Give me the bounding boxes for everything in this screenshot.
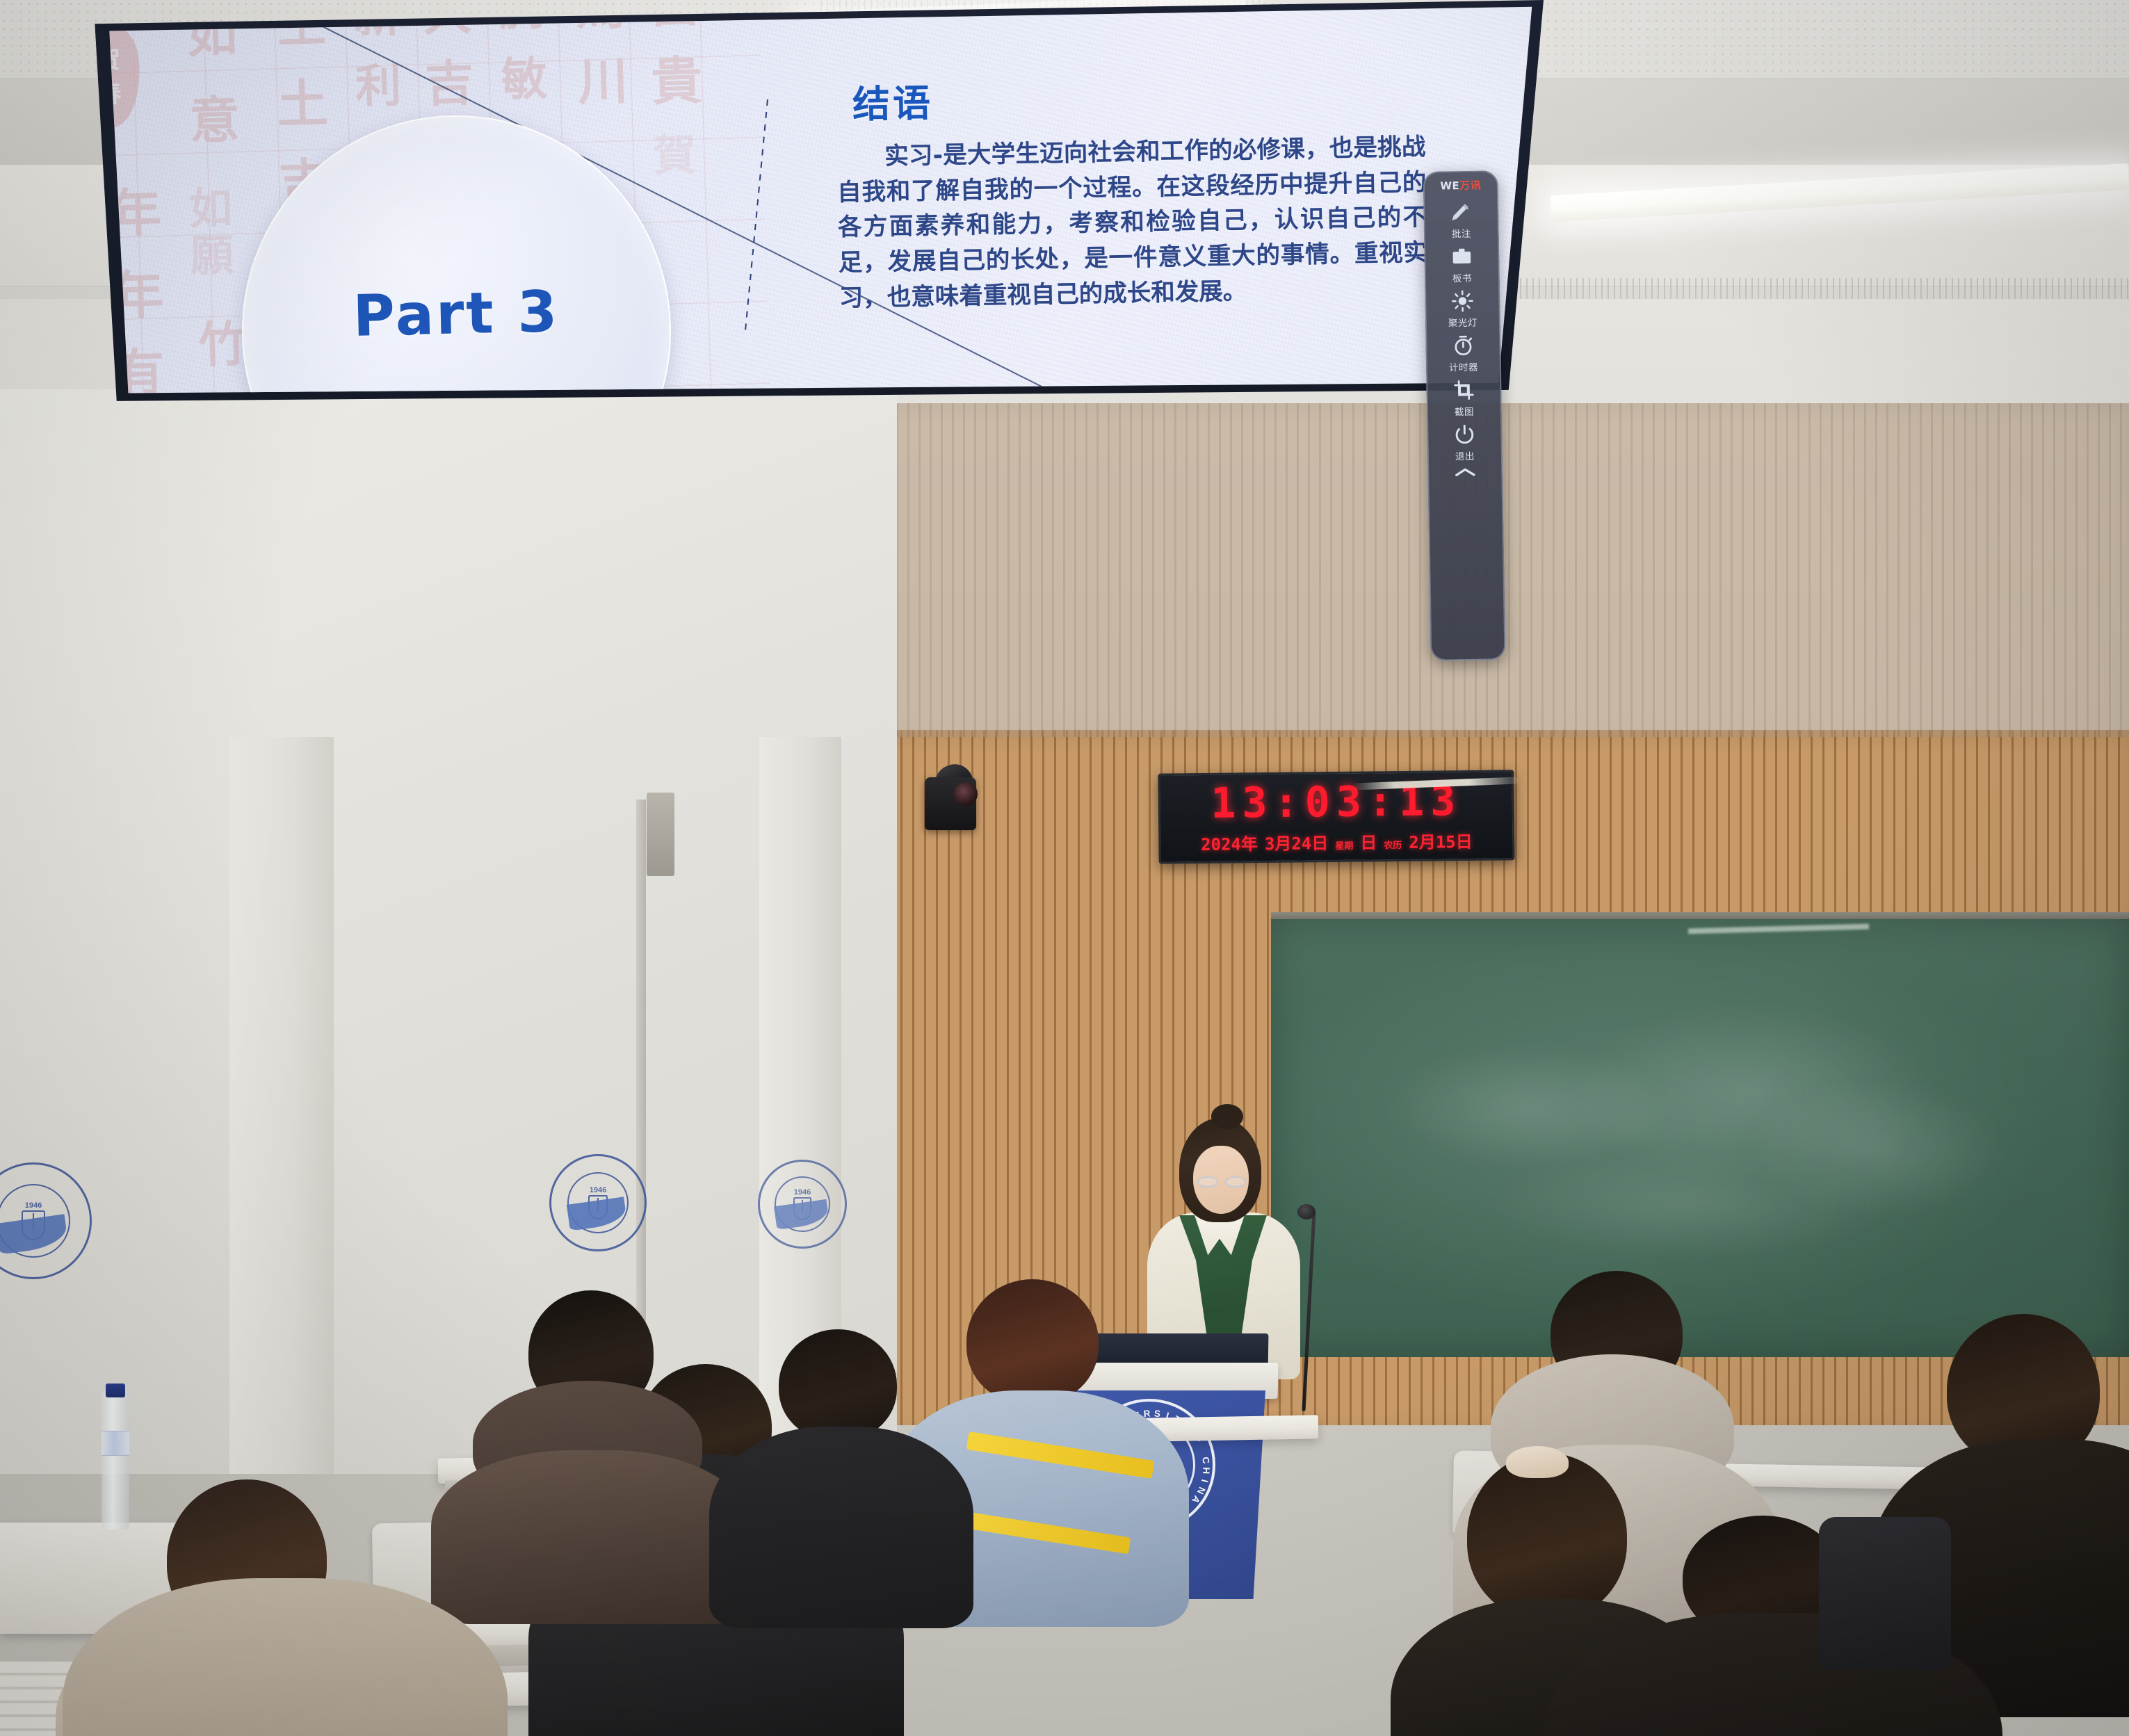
- classroom-scene: 1946 1946 1946 贺春: [0, 0, 2129, 1736]
- toolbar-label: 板书: [1452, 270, 1472, 284]
- wall-seal-logo: 1946: [549, 1154, 647, 1251]
- screenshot-icon: [1450, 377, 1478, 404]
- power-icon: [1451, 421, 1478, 448]
- toolbar-item-screenshot[interactable]: 截图: [1427, 376, 1500, 419]
- toolbar-item-blackboard[interactable]: 板书: [1425, 243, 1498, 285]
- toolbar-item-timer[interactable]: 计时器: [1427, 332, 1500, 374]
- toolbar-brand: WE万讯: [1440, 178, 1481, 193]
- toolbar-label: 批注: [1452, 226, 1471, 240]
- slide-diagonal-line: [147, 539, 1544, 793]
- wall-speaker: [647, 793, 674, 876]
- wall-seal-logo: 1946: [758, 1160, 847, 1249]
- audience-member: [445, 1290, 723, 1541]
- bottle-cap: [106, 1384, 125, 1397]
- toolbar-item-spotlight[interactable]: 聚光灯: [1426, 287, 1499, 330]
- projection-screen: 贺春 如 意 如 願 年 年 有 余 竹 報 平 生 土 吉 新 利 大 吉: [89, 0, 1544, 793]
- timer-icon: [1450, 332, 1477, 359]
- wall-column: [229, 737, 334, 1474]
- toolbar-label: 聚光灯: [1448, 315, 1478, 330]
- clock-lunar-label: 农历: [1384, 838, 1402, 851]
- microphone-head: [1297, 1204, 1316, 1219]
- toolbar-item-annotate[interactable]: 批注: [1425, 198, 1498, 241]
- presentation-toolbar[interactable]: WE万讯 批注 板书: [1423, 170, 1505, 661]
- brand-suffix: 万讯: [1459, 179, 1481, 192]
- toolbar-item-exit[interactable]: 退出: [1428, 421, 1501, 463]
- clock-date-row: 2024年 3月24日 星期 日 农历 2月15日: [1201, 828, 1473, 855]
- clock-lunar-date: 2月15日: [1409, 828, 1473, 853]
- clock-year: 2024年: [1201, 830, 1258, 855]
- blackboard-icon: [1448, 243, 1475, 270]
- clock-weekday-label: 星期: [1335, 838, 1353, 852]
- toolbar-label: 计时器: [1449, 359, 1478, 374]
- slide-body-text: 实习-是大学生迈向社会和工作的必修课，也是挑战自我和了解自我的一个过程。在这段经…: [836, 129, 1429, 316]
- bottle-label: [102, 1431, 129, 1456]
- seal-year: 1946: [25, 1201, 42, 1210]
- wall-pipe: [636, 800, 646, 1328]
- toolbar-label: 退出: [1455, 448, 1475, 462]
- seal-year: 1946: [590, 1186, 606, 1194]
- backpack: [1819, 1517, 1951, 1670]
- camera-ring-icon: [954, 782, 978, 806]
- glasses-icon: [1197, 1176, 1246, 1187]
- audience-member: [702, 1329, 953, 1559]
- brand-we: WE: [1440, 179, 1459, 192]
- seal-year: 1946: [794, 1188, 811, 1196]
- clock-weekday-value: 日: [1360, 829, 1377, 853]
- presenter-hair-bun: [1211, 1104, 1243, 1129]
- chevron-up-icon[interactable]: [1452, 465, 1478, 484]
- slide-title: 结语: [852, 72, 934, 129]
- spotlight-icon: [1449, 288, 1476, 315]
- pen-icon: [1448, 199, 1475, 226]
- toolbar-label: 截图: [1455, 404, 1474, 418]
- audience-member: [63, 1550, 494, 1736]
- slide-part-label: Part 3: [242, 277, 670, 352]
- clock-date: 3月24日: [1265, 829, 1329, 854]
